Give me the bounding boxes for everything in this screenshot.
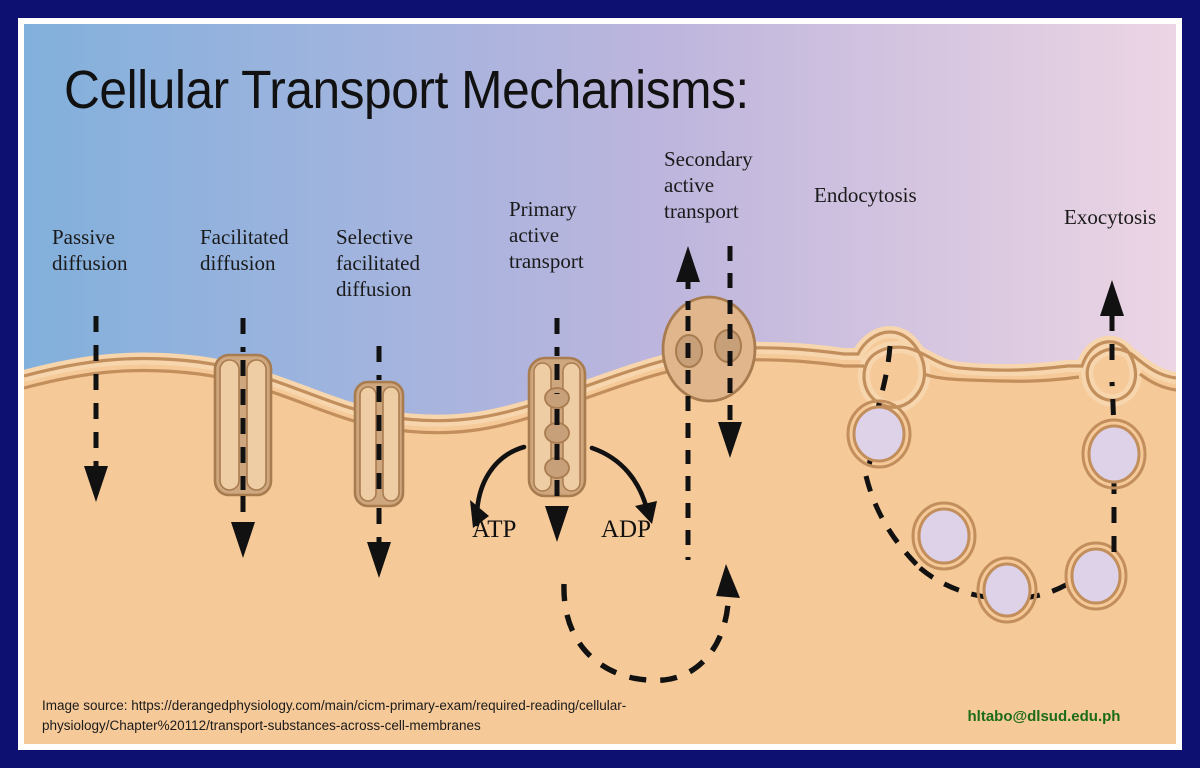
page-title: Cellular Transport Mechanisms: <box>64 60 749 120</box>
label-exocytosis: Exocytosis <box>1064 204 1156 230</box>
image-source-line-1: Image source: https://derangedphysiology… <box>42 698 626 713</box>
image-source-caption: Image source: https://derangedphysiology… <box>42 696 772 736</box>
endocytosis-vesicle-4 <box>1066 543 1126 609</box>
endocytosis-vesicle-1 <box>848 401 910 467</box>
exocytosis-vesicle-1 <box>1083 420 1145 488</box>
label-endocytosis: Endocytosis <box>814 182 917 208</box>
label-secondary-active-transport: Secondaryactivetransport <box>664 146 753 224</box>
endocytosis-vesicle-2 <box>913 503 975 569</box>
secondary-active-transport-carrier <box>663 297 755 401</box>
label-facilitated-diffusion: Facilitateddiffusion <box>200 224 289 276</box>
label-passive-diffusion: Passivediffusion <box>52 224 127 276</box>
label-atp: ATP <box>472 516 516 544</box>
label-adp: ADP <box>601 516 651 544</box>
slide-frame: Cellular Transport Mechanisms: Passivedi… <box>0 0 1200 768</box>
cell-membrane-illustration <box>24 24 1176 744</box>
image-source-line-2: physiology/Chapter%20112/transport-subst… <box>42 718 481 733</box>
label-primary-active-transport: Primaryactivetransport <box>509 196 584 274</box>
endocytosis-vesicle-3 <box>978 558 1036 622</box>
diagram-canvas: Cellular Transport Mechanisms: Passivedi… <box>24 24 1176 744</box>
cytoplasm <box>24 328 1176 744</box>
author-email: hltabo@dlsud.edu.ph <box>924 708 1164 725</box>
label-selective-facilitated-diffusion: Selectivefacilitateddiffusion <box>336 224 420 302</box>
